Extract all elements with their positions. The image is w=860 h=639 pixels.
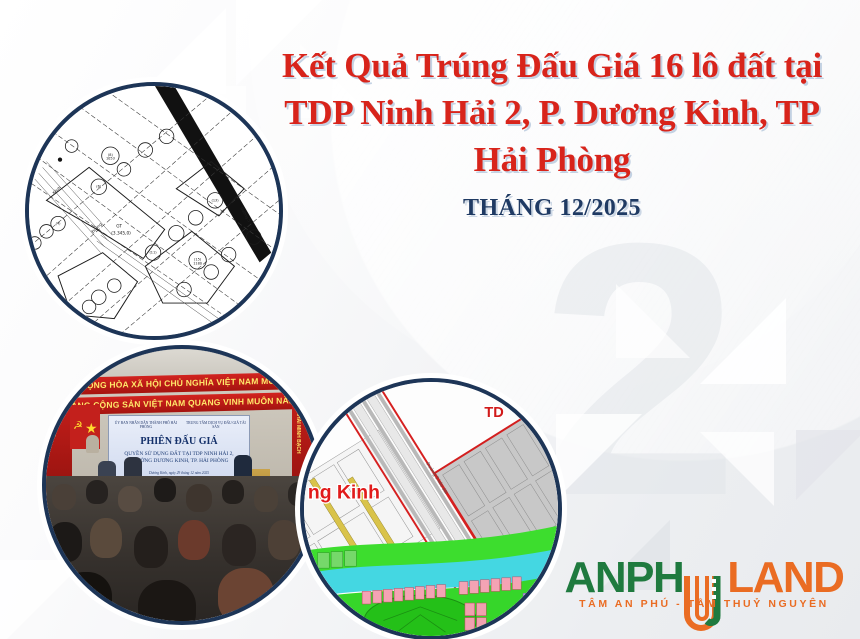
title-line-2: TDP Ninh Hải 2, P. Dương Kinh, TP (252, 89, 852, 136)
hammer-sickle-icon: ☭ (73, 419, 83, 432)
audience-head (118, 486, 142, 512)
audience-head (48, 522, 82, 562)
svg-text:(13): (13) (211, 198, 219, 202)
cadastral-map-image: (8)1053 (15)1180 (11) (13) (4) (6) GT (3… (29, 86, 279, 336)
svg-text:(4): (4) (56, 222, 62, 226)
map-label-duong-kinh: ng Kinh (308, 481, 380, 503)
planning-map-image: ng Kinh TD Đường 5 kéo dài (304, 382, 558, 636)
audience-area (46, 476, 318, 621)
planning-map-drawing: ng Kinh TD Đường 5 kéo dài (304, 382, 558, 636)
decor-triangle-7 (700, 432, 774, 506)
logo-tagline: TÂM AN PHÚ - TẦM THUỶ NGUYÊN (556, 598, 852, 610)
audience-head-front (138, 580, 196, 621)
audience-head-front (60, 572, 112, 621)
audience-head (90, 518, 122, 558)
title-line-1: Kết Quả Trúng Đấu Giá 16 lô đất tại (252, 42, 852, 89)
decor-triangle-10 (796, 430, 860, 500)
title-line-3: Hải Phòng (252, 136, 852, 183)
planning-map-circle: ng Kinh TD Đường 5 kéo dài (300, 378, 562, 639)
svg-text:(3.345,0): (3.345,0) (111, 230, 131, 236)
auction-photo-circle: NƯỚC CỘNG HÒA XÃ HỘI CHỦ NGHĨA VIỆT NAM … (42, 345, 322, 625)
auction-hall-scene: NƯỚC CỘNG HÒA XÃ HỘI CHỦ NGHĨA VIỆT NAM … (46, 349, 318, 621)
screen-org-left: ỦY BAN NHÂN DÂN THÀNH PHỐ HẢI PHÒNG (109, 421, 183, 429)
audience-head (178, 520, 210, 560)
audience-head (268, 520, 300, 560)
auction-photo-image: NƯỚC CỘNG HÒA XÃ HỘI CHỦ NGHĨA VIỆT NAM … (46, 349, 318, 621)
svg-text:(6): (6) (96, 185, 102, 189)
cadastral-map-drawing: (8)1053 (15)1180 (11) (13) (4) (6) GT (3… (29, 86, 279, 336)
screen-headline: PHIÊN ĐẤU GIÁ (109, 436, 249, 447)
logo-wordmark: ANPH LAND (556, 552, 852, 604)
title-block: Kết Quả Trúng Đấu Giá 16 lô đất tại TDP … (252, 42, 852, 222)
audience-head (186, 484, 212, 512)
svg-text:1180: 1180 (193, 261, 202, 265)
audience-head (222, 524, 256, 566)
decor-triangle-9 (616, 284, 690, 358)
audience-head (52, 484, 76, 510)
audience-head (134, 526, 168, 568)
poster-canvas: 2 Kết Quả Trúng Đấu Giá 16 lô đất tại TD… (0, 0, 860, 639)
cadastral-map-circle: (8)1053 (15)1180 (11) (13) (4) (6) GT (3… (25, 82, 283, 340)
audience-head (86, 480, 108, 504)
audience-head (222, 480, 244, 504)
map-label-tdp: TD (484, 405, 503, 421)
svg-text:(11): (11) (149, 251, 157, 255)
decor-triangle-6 (556, 414, 642, 500)
bust-statue (86, 435, 99, 453)
logo-text-land: LAND (727, 553, 843, 602)
audience-head (254, 486, 278, 512)
subtitle-month-year: THÁNG 12/2025 (252, 195, 852, 222)
svg-text:GT: GT (116, 223, 122, 229)
audience-head-front (218, 568, 274, 621)
logo-text-anph: ANPH (565, 553, 684, 602)
screen-org-right: TRUNG TÂM DỊCH VỤ ĐẤU GIÁ TÀI SẢN (183, 421, 249, 429)
decor-triangle-5 (700, 298, 786, 384)
anphuland-logo[interactable]: ANPH LAND TÂM AN PHÚ - TẦM THUỶ NGUYÊN (556, 536, 852, 632)
audience-head (154, 478, 176, 502)
svg-text:1053: 1053 (106, 157, 115, 161)
